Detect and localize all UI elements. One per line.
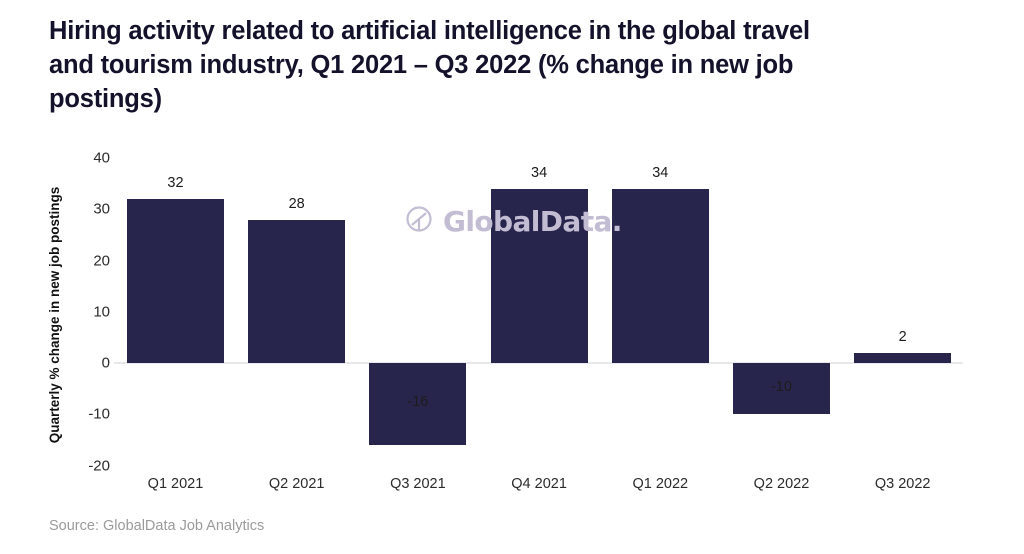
x-axis-tick-label: Q4 2021 xyxy=(491,476,588,492)
x-axis-tick-label: Q3 2021 xyxy=(369,476,466,492)
bar-value-label: -10 xyxy=(733,379,830,395)
bar-value-label: 28 xyxy=(248,196,345,212)
bar-value-label: 34 xyxy=(612,165,709,181)
x-axis-tick-label: Q3 2022 xyxy=(854,476,951,492)
x-axis-tick-label: Q2 2021 xyxy=(248,476,345,492)
source-note: Source: GlobalData Job Analytics xyxy=(49,518,264,534)
bar-value-label: 34 xyxy=(491,165,588,181)
x-axis-tick-label: Q2 2022 xyxy=(733,476,830,492)
chart-plot-area: Quarterly % change in new job postings 4… xyxy=(0,0,1024,554)
x-axis-tick-label: Q1 2022 xyxy=(612,476,709,492)
bar-q4-2021[interactable] xyxy=(491,189,588,363)
bar-series: 32Q1 202128Q2 2021-16Q3 202134Q4 202134Q… xyxy=(0,0,1024,554)
bar-value-label: 32 xyxy=(127,175,224,191)
bar-value-label: -16 xyxy=(369,394,466,410)
bar-value-label: 2 xyxy=(854,329,951,345)
bar-q1-2021[interactable] xyxy=(127,199,224,363)
x-axis-tick-label: Q1 2021 xyxy=(127,476,224,492)
bar-q2-2021[interactable] xyxy=(248,220,345,364)
bar-q1-2022[interactable] xyxy=(612,189,709,363)
bar-q3-2022[interactable] xyxy=(854,353,951,363)
